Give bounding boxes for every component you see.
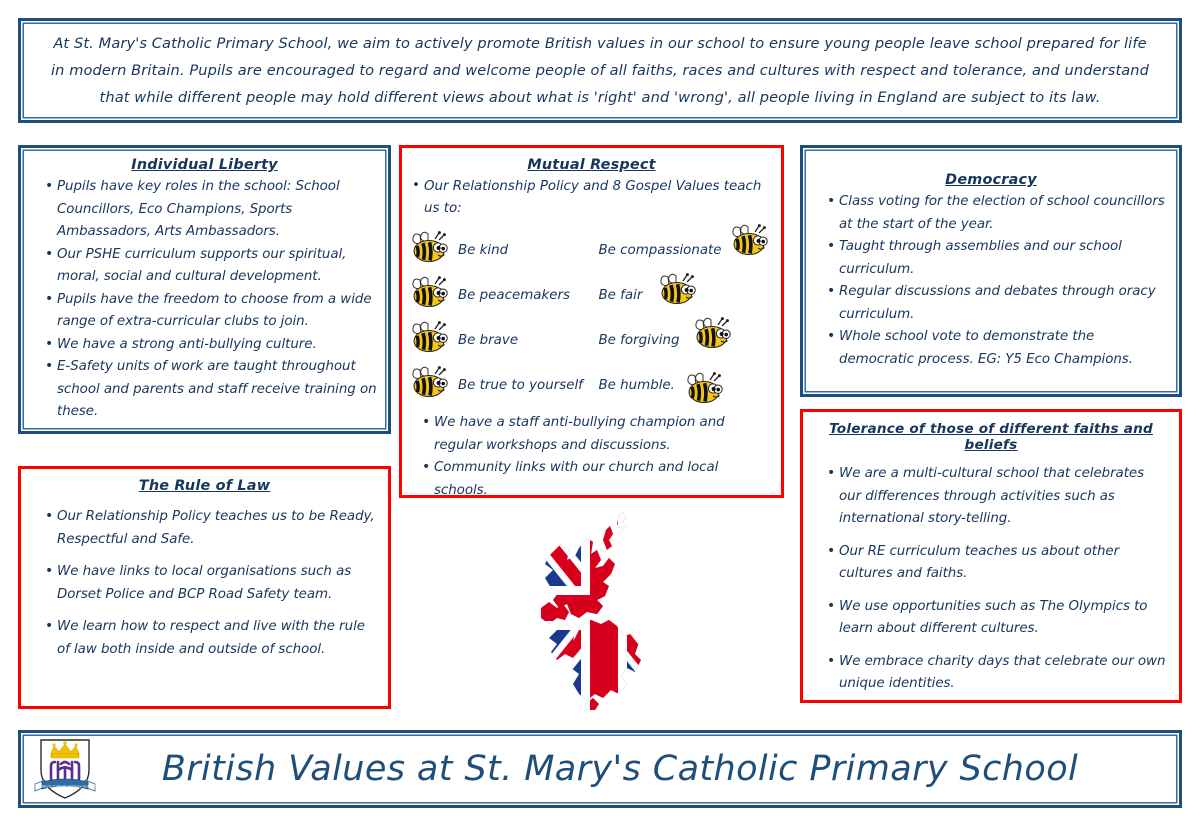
card-title-tolerance: Tolerance of those of different faiths a… <box>803 421 1179 453</box>
list-item: We embrace charity days that celebrate o… <box>827 651 1169 696</box>
bee-icon <box>410 366 450 405</box>
header-banner: At St. Mary's Catholic Primary School, w… <box>18 18 1182 123</box>
card-tolerance: Tolerance of those of different faiths a… <box>800 409 1182 703</box>
list-item: Community links with our church and loca… <box>422 457 767 502</box>
gospel-values-row: Be kind Be compassionate <box>410 228 775 273</box>
card-rule-of-law: The Rule of Law Our Relationship Policy … <box>18 466 391 709</box>
list-item: Pupils have the freedom to choose from a… <box>45 289 378 334</box>
school-crest-logo: St Mary's Catholic Primary School <box>29 734 101 804</box>
bullet-list-rule-of-law: Our Relationship Policy teaches us to be… <box>21 506 388 661</box>
bullet-list-individual-liberty: Pupils have key roles in the school: Sch… <box>21 176 388 424</box>
card-mutual-respect: Mutual Respect Our Relationship Policy a… <box>399 145 784 498</box>
gospel-value-item: Be kind <box>410 231 587 270</box>
gospel-value-item: Be peacemakers <box>410 276 587 315</box>
card-title-mutual-respect: Mutual Respect <box>402 157 781 173</box>
mutual-respect-intro: Our Relationship Policy and 8 Gospel Val… <box>402 176 781 220</box>
gospel-value-label: Be humble. <box>599 378 675 393</box>
list-item: Pupils have key roles in the school: Sch… <box>45 176 378 244</box>
list-item: Class voting for the election of school … <box>827 191 1169 236</box>
list-item: We are a multi-cultural school that cele… <box>827 463 1169 531</box>
list-item: E-Safety units of work are taught throug… <box>45 356 378 424</box>
header-statement: At St. Mary's Catholic Primary School, w… <box>21 30 1179 111</box>
gospel-value-label: Be forgiving <box>599 333 680 348</box>
bullet-list-tolerance: We are a multi-cultural school that cele… <box>803 463 1179 696</box>
uk-union-jack-map-image <box>523 508 683 713</box>
gospel-values-row: Be peacemakers Be fair <box>410 273 775 318</box>
gospel-value-item: Be brave <box>410 321 587 360</box>
gospel-value-item: Be humble. <box>587 360 776 411</box>
bullet-list-democracy: Class voting for the election of school … <box>803 191 1179 371</box>
poster-page: At St. Mary's Catholic Primary School, w… <box>0 0 1200 826</box>
list-item: We use opportunities such as The Olympic… <box>827 596 1169 641</box>
bee-icon <box>730 224 770 263</box>
list-item: We have links to local organisations suc… <box>45 561 378 606</box>
gospel-value-label: Be brave <box>458 333 518 348</box>
bee-icon <box>693 317 733 356</box>
card-title-democracy: Democracy <box>803 172 1179 188</box>
gospel-value-label: Be kind <box>458 243 508 258</box>
gospel-value-label: Be true to yourself <box>458 378 583 393</box>
list-item: Our RE curriculum teaches us about other… <box>827 541 1169 586</box>
gospel-values-row: Be brave Be forgiving <box>410 318 775 363</box>
card-title-rule-of-law: The Rule of Law <box>21 478 388 494</box>
bee-icon <box>410 231 450 270</box>
gospel-value-label: Be compassionate <box>599 243 722 258</box>
list-item: We have a staff anti-bullying champion a… <box>422 412 767 457</box>
list-item: Our Relationship Policy teaches us to be… <box>45 506 378 551</box>
gospel-value-item: Be compassionate <box>587 224 776 277</box>
card-title-individual-liberty: Individual Liberty <box>21 157 388 173</box>
bee-icon <box>410 276 450 315</box>
bee-icon <box>658 273 698 312</box>
bee-icon <box>685 372 725 411</box>
list-item: Our PSHE curriculum supports our spiritu… <box>45 244 378 289</box>
gospel-value-label: Be peacemakers <box>458 288 570 303</box>
list-item: We learn how to respect and live with th… <box>45 616 378 661</box>
svg-text:St Mary's Catholic Primary Sch: St Mary's Catholic Primary School <box>35 784 95 789</box>
gospel-value-item: Be fair <box>587 273 776 318</box>
gospel-value-item: Be forgiving <box>587 317 776 364</box>
gospel-values-row: Be true to yourself Be humble. <box>410 363 775 408</box>
list-item: Regular discussions and debates through … <box>827 281 1169 326</box>
gospel-values-grid: Be kind Be compassionate <box>402 228 781 408</box>
bullet-list-mutual-respect: We have a staff anti-bullying champion a… <box>402 412 781 502</box>
gospel-value-label: Be fair <box>599 288 643 303</box>
footer-banner: St Mary's Catholic Primary School Britis… <box>18 730 1182 808</box>
bee-icon <box>410 321 450 360</box>
gospel-value-item: Be true to yourself <box>410 366 587 405</box>
list-item: Whole school vote to demonstrate the dem… <box>827 326 1169 371</box>
card-individual-liberty: Individual Liberty Pupils have key roles… <box>18 145 391 434</box>
list-item: Taught through assemblies and our school… <box>827 236 1169 281</box>
list-item: We have a strong anti-bullying culture. <box>45 334 378 357</box>
card-democracy: Democracy Class voting for the election … <box>800 145 1182 397</box>
footer-title: British Values at St. Mary's Catholic Pr… <box>101 749 1179 789</box>
